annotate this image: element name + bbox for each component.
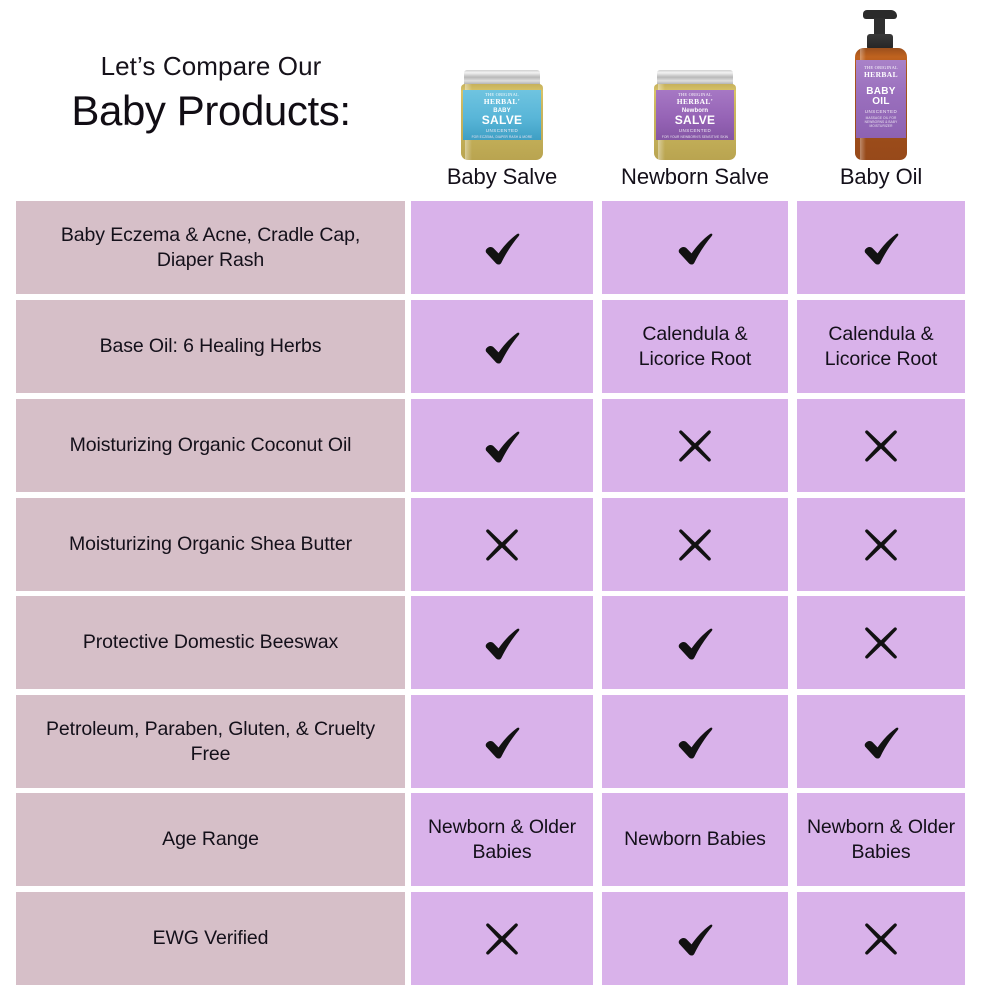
cross-icon [672, 522, 718, 568]
check-icon [672, 225, 718, 271]
check-icon [672, 719, 718, 765]
feature-label-cell: Baby Eczema & Acne, Cradle Cap, Diaper R… [16, 201, 405, 294]
cell-text: Newborn & Older Babies [411, 793, 593, 886]
cross-icon [479, 916, 525, 962]
check-icon [858, 719, 904, 765]
check-icon [858, 225, 904, 271]
cross-icon [858, 916, 904, 962]
cell-text: Newborn & Older Babies [797, 793, 965, 886]
cell-cross [602, 498, 788, 591]
cell-check [602, 892, 788, 985]
cell-cross [797, 399, 965, 492]
feature-label-cell: Base Oil: 6 Healing Herbs [16, 300, 405, 393]
cell-cross [797, 498, 965, 591]
cell-cross [602, 399, 788, 492]
cross-icon [672, 423, 718, 469]
cell-text: Calendula & Licorice Root [797, 300, 965, 393]
feature-label-cell: Protective Domestic Beeswax [16, 596, 405, 689]
cell-check [602, 596, 788, 689]
cell-cross [797, 892, 965, 985]
cross-icon [858, 620, 904, 666]
cell-text: Newborn Babies [602, 793, 788, 886]
feature-label-cell: Age Range [16, 793, 405, 886]
cell-cross [411, 498, 593, 591]
check-icon [479, 423, 525, 469]
cell-check [797, 201, 965, 294]
cell-check [411, 399, 593, 492]
check-icon [479, 324, 525, 370]
cell-check [411, 596, 593, 689]
cross-icon [479, 522, 525, 568]
cross-icon [858, 522, 904, 568]
cell-check [411, 201, 593, 294]
feature-label-cell: Petroleum, Paraben, Gluten, & Cruelty Fr… [16, 695, 405, 788]
cell-cross [797, 596, 965, 689]
cell-check [602, 201, 788, 294]
check-icon [479, 225, 525, 271]
feature-label-cell: Moisturizing Organic Shea Butter [16, 498, 405, 591]
cell-check [411, 695, 593, 788]
cell-cross [411, 892, 593, 985]
check-icon [479, 620, 525, 666]
comparison-table: Baby Eczema & Acne, Cradle Cap, Diaper R… [0, 0, 1000, 1000]
cell-check [797, 695, 965, 788]
feature-label-cell: Moisturizing Organic Coconut Oil [16, 399, 405, 492]
check-icon [672, 916, 718, 962]
cell-check [602, 695, 788, 788]
check-icon [479, 719, 525, 765]
cell-text: Calendula & Licorice Root [602, 300, 788, 393]
check-icon [672, 620, 718, 666]
feature-label-cell: EWG Verified [16, 892, 405, 985]
cell-check [411, 300, 593, 393]
cross-icon [858, 423, 904, 469]
